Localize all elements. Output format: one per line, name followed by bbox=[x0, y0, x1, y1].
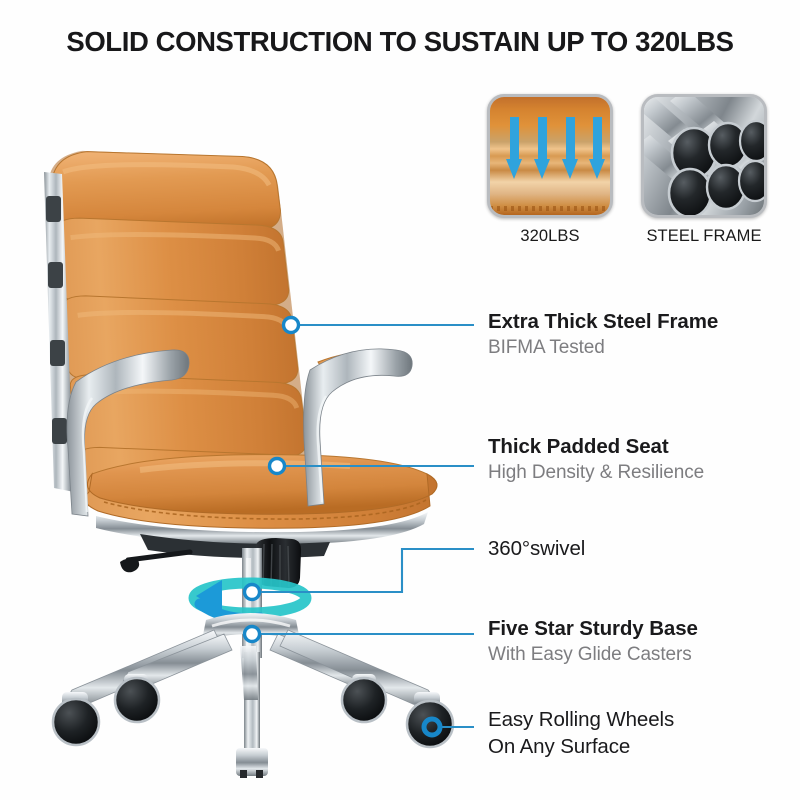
badge-label: STEEL FRAME bbox=[641, 227, 767, 246]
callout-title: Easy Rolling Wheels bbox=[488, 707, 674, 732]
callout-five-star-base: Five Star Sturdy Base With Easy Glide Ca… bbox=[488, 616, 698, 668]
feature-badges: 320LBS bbox=[487, 94, 767, 246]
callout-title: Extra Thick Steel Frame bbox=[488, 309, 718, 334]
callout-title: Thick Padded Seat bbox=[488, 434, 704, 459]
callout-padded-seat: Thick Padded Seat High Density & Resilie… bbox=[488, 434, 704, 486]
tilt-lever bbox=[128, 552, 190, 560]
callout-title: Five Star Sturdy Base bbox=[488, 616, 698, 641]
callout-subtitle: High Density & Resilience bbox=[488, 461, 704, 485]
callout-steel-frame: Extra Thick Steel Frame BIFMA Tested bbox=[488, 309, 718, 361]
callout-swivel: 360°swivel bbox=[488, 536, 585, 561]
infographic-page: SOLID CONSTRUCTION TO SUSTAIN UP TO 320L… bbox=[0, 0, 800, 800]
badge-320lbs: 320LBS bbox=[487, 94, 613, 246]
callout-subtitle: On Any Surface bbox=[488, 734, 674, 760]
callout-rolling-wheels: Easy Rolling Wheels On Any Surface bbox=[488, 707, 674, 761]
badge-steel-frame: STEEL FRAME bbox=[641, 94, 767, 246]
cushion-load-arrows-icon bbox=[487, 94, 613, 218]
badge-label: 320LBS bbox=[487, 227, 613, 246]
callout-title: 360°swivel bbox=[488, 536, 585, 561]
steel-tubes-icon bbox=[641, 94, 767, 218]
callout-subtitle: With Easy Glide Casters bbox=[488, 643, 698, 667]
chair-illustration bbox=[0, 0, 500, 800]
callout-subtitle: BIFMA Tested bbox=[488, 336, 718, 360]
